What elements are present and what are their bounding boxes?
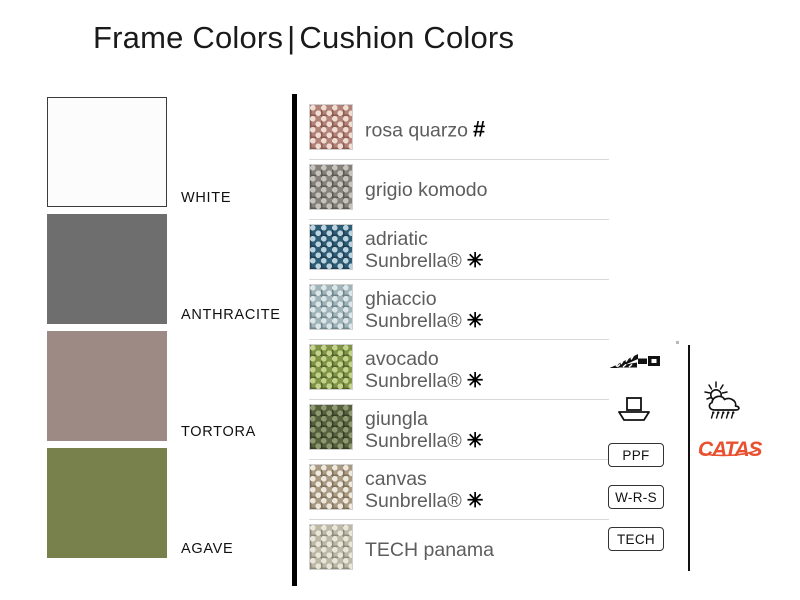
- frame-label: ANTHRACITE: [181, 307, 281, 323]
- cushion-label: canvasSunbrella®✳: [365, 468, 484, 512]
- cushion-name: giungla: [365, 408, 428, 430]
- hash-symbol: #: [468, 118, 485, 140]
- cushion-name: TECH panama: [365, 539, 494, 561]
- frame-color-row: AGAVE: [47, 448, 287, 565]
- badge-wrs[interactable]: W-R-S: [608, 485, 664, 509]
- fabric-swatch-tech-panama[interactable]: [309, 524, 353, 570]
- frame-swatch-agave[interactable]: [47, 448, 167, 558]
- cushion-name: rosa quarzo: [365, 119, 468, 141]
- cushion-label: rosa quarzo#: [365, 118, 485, 141]
- asterisk-symbol: ✳: [462, 250, 484, 272]
- badge-ppf[interactable]: PPF: [608, 443, 664, 467]
- badge-tech[interactable]: TECH: [608, 527, 664, 551]
- frame-color-row: ANTHRACITE: [47, 214, 287, 331]
- fabric-swatch-giungla[interactable]: [309, 404, 353, 450]
- fabric-swatch-avocado[interactable]: [309, 344, 353, 390]
- cushion-label: TECH panama: [365, 539, 494, 561]
- frame-swatch-tortora[interactable]: [47, 331, 167, 441]
- cushion-label: grigio komodo: [365, 179, 487, 201]
- fabric-swatch-adriatic[interactable]: [309, 224, 353, 270]
- fabric-swatch-ghiaccio[interactable]: [309, 284, 353, 330]
- title-separator: |: [283, 20, 299, 55]
- cushion-brand: Sunbrella®: [365, 370, 462, 392]
- cushion-name: avocado: [365, 348, 439, 370]
- cushion-brand: Sunbrella®: [365, 430, 462, 452]
- cushion-brand: Sunbrella®: [365, 490, 462, 512]
- fabric-swatch-canvas[interactable]: [309, 464, 353, 510]
- sun-cloud-rain-icon: [701, 380, 757, 433]
- zipper-icon: [608, 350, 664, 377]
- cushion-brand: Sunbrella®: [365, 250, 462, 272]
- frame-color-row: WHITE: [47, 97, 287, 214]
- frame-color-list: WHITEANTHRACITETORTORAAGAVE: [47, 97, 287, 565]
- frame-label: WHITE: [181, 190, 231, 206]
- cushion-color-row: giunglaSunbrella®✳: [309, 400, 609, 460]
- cushion-color-row: TECH panama: [309, 520, 609, 580]
- cushion-name: canvas: [365, 468, 427, 490]
- cushion-label: ghiaccioSunbrella®✳: [365, 288, 484, 332]
- catalog-page: Frame Colors|Cushion Colors WHITEANTHRAC…: [0, 0, 800, 600]
- cushion-label: adriaticSunbrella®✳: [365, 228, 484, 272]
- cushion-label: avocadoSunbrella®✳: [365, 348, 484, 392]
- page-title: Frame Colors|Cushion Colors: [93, 20, 514, 56]
- title-cushion-colors: Cushion Colors: [299, 20, 514, 55]
- cushion-color-row: avocadoSunbrella®✳: [309, 340, 609, 400]
- cushion-name: grigio komodo: [365, 179, 487, 201]
- catas-logo: CATAS: [697, 436, 763, 467]
- asterisk-symbol: ✳: [462, 310, 484, 332]
- asterisk-symbol: ✳: [462, 430, 484, 452]
- frame-color-row: TORTORA: [47, 331, 287, 448]
- fabric-swatch-grigio-komodo[interactable]: [309, 164, 353, 210]
- frame-swatch-anthracite[interactable]: [47, 214, 167, 324]
- decorative-speck: [676, 341, 679, 344]
- cushion-color-row: canvasSunbrella®✳: [309, 460, 609, 520]
- cushion-color-row: grigio komodo: [309, 160, 609, 220]
- iron-icon: [614, 395, 654, 430]
- cushion-label: giunglaSunbrella®✳: [365, 408, 484, 452]
- badge-wrs-label: W-R-S: [615, 490, 657, 505]
- cushion-color-row: adriaticSunbrella®✳: [309, 220, 609, 280]
- badge-ppf-label: PPF: [622, 448, 649, 463]
- cushion-color-list: rosa quarzo#grigio komodoadriaticSunbrel…: [309, 100, 609, 580]
- frame-swatch-white[interactable]: [47, 97, 167, 207]
- cushion-color-row: rosa quarzo#: [309, 100, 609, 160]
- cushion-brand: Sunbrella®: [365, 310, 462, 332]
- asterisk-symbol: ✳: [462, 370, 484, 392]
- cushion-color-row: ghiaccioSunbrella®✳: [309, 280, 609, 340]
- frame-label: AGAVE: [181, 541, 233, 557]
- badge-tech-label: TECH: [617, 532, 655, 547]
- right-vertical-divider: [688, 345, 690, 571]
- main-vertical-divider: [292, 94, 297, 586]
- cushion-name: ghiaccio: [365, 288, 437, 310]
- title-frame-colors: Frame Colors: [93, 20, 283, 55]
- fabric-swatch-rosa-quarzo[interactable]: [309, 104, 353, 150]
- cushion-name: adriatic: [365, 228, 428, 250]
- asterisk-symbol: ✳: [462, 490, 484, 512]
- catas-logo-text: CATAS: [698, 438, 762, 461]
- frame-label: TORTORA: [181, 424, 256, 440]
